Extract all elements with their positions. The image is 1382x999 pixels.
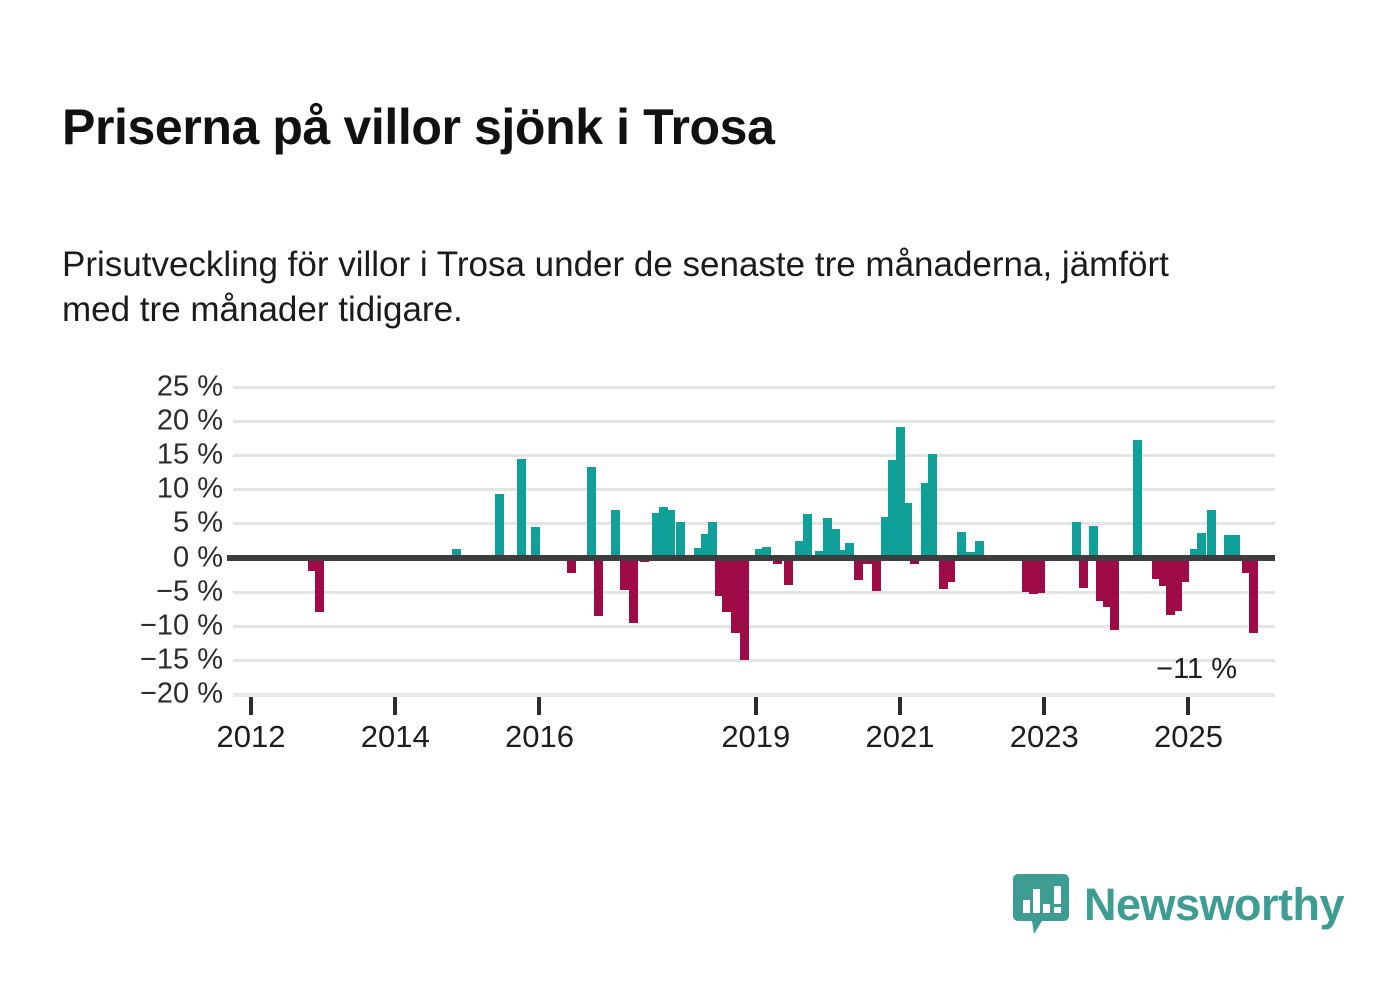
chart-bar (784, 558, 793, 585)
chart-bar (531, 527, 540, 558)
x-axis-tick-label: 2014 (315, 719, 475, 755)
chart-bar (740, 558, 749, 660)
chart-bar (594, 558, 603, 616)
chart-bar (1036, 558, 1045, 593)
gridline (233, 386, 1275, 389)
newsworthy-logo: Newsworthy (1012, 872, 1344, 936)
chart-bar (666, 510, 675, 558)
chart-bar (629, 558, 638, 623)
y-axis-tick-label: 20 % (73, 407, 223, 436)
x-axis-tick (754, 697, 758, 715)
chart-page: Priserna på villor sjönk i Trosa Prisutv… (0, 0, 1382, 999)
chart-bar (611, 510, 620, 558)
gridline (233, 522, 1275, 525)
gridline (233, 659, 1275, 662)
y-axis-tick-label: 10 % (73, 475, 223, 504)
chart-bar (1133, 440, 1142, 557)
y-axis-tick-label: 15 % (73, 441, 223, 470)
y-axis-tick-label: 25 % (73, 373, 223, 402)
x-axis-tick (537, 697, 541, 715)
value-annotation: −11 % (1156, 653, 1237, 686)
chart-bar (872, 558, 881, 591)
x-axis-tick-label: 2025 (1108, 719, 1268, 755)
y-axis-labels: 25 %20 %15 %10 %5 %0 %−5 %−10 %−15 %−20 … (73, 387, 223, 694)
newsworthy-wordmark: Newsworthy (1084, 882, 1344, 927)
x-axis-tick-label: 2012 (171, 719, 331, 755)
x-axis-tick (1042, 697, 1046, 715)
chart-bar (946, 558, 955, 583)
bar-chart: 25 %20 %15 %10 %5 %0 %−5 %−10 %−15 %−20 … (0, 0, 1382, 999)
gridline (233, 488, 1275, 491)
chart-bar (1180, 558, 1189, 583)
chart-bar (1079, 558, 1088, 589)
x-axis-tick-label: 2016 (459, 719, 619, 755)
chart-bar (1207, 510, 1216, 558)
chart-bar (731, 558, 740, 633)
chart-bar (517, 459, 526, 557)
y-axis-tick-label: 5 % (73, 509, 223, 538)
y-axis-tick-label: 0 % (73, 543, 223, 572)
x-axis-tick-label: 2019 (676, 719, 836, 755)
x-axis-tick (898, 697, 902, 715)
y-axis-tick-label: −10 % (73, 611, 223, 640)
chart-bar (1072, 522, 1081, 557)
chart-bar (587, 467, 596, 558)
y-axis-tick-label: −20 % (73, 680, 223, 709)
chart-bar (903, 503, 912, 558)
chart-bar (708, 522, 717, 557)
chart-bar (1110, 558, 1119, 630)
x-axis-tick (393, 697, 397, 715)
chart-bar (315, 558, 324, 613)
chart-bar (676, 522, 685, 557)
newsworthy-speech-bubble-bar-chart-icon (1012, 872, 1070, 936)
chart-bar (722, 558, 731, 613)
chart-bar (620, 558, 629, 590)
chart-bar (1249, 558, 1258, 633)
chart-bar (1089, 526, 1098, 557)
chart-bar (928, 454, 937, 558)
y-axis-tick-label: −15 % (73, 645, 223, 674)
x-axis-tick-label: 2023 (964, 719, 1124, 755)
gridline (233, 420, 1275, 423)
chart-bar (495, 494, 504, 557)
chart-bar (854, 558, 863, 581)
gridline (233, 454, 1275, 457)
chart-bar (803, 514, 812, 558)
plot-area (233, 387, 1275, 694)
x-axis-tick (249, 697, 253, 715)
x-axis-tick (1186, 697, 1190, 715)
x-axis-tick-label: 2021 (820, 719, 980, 755)
zero-line (227, 555, 1275, 561)
y-axis-tick-label: −5 % (73, 577, 223, 606)
